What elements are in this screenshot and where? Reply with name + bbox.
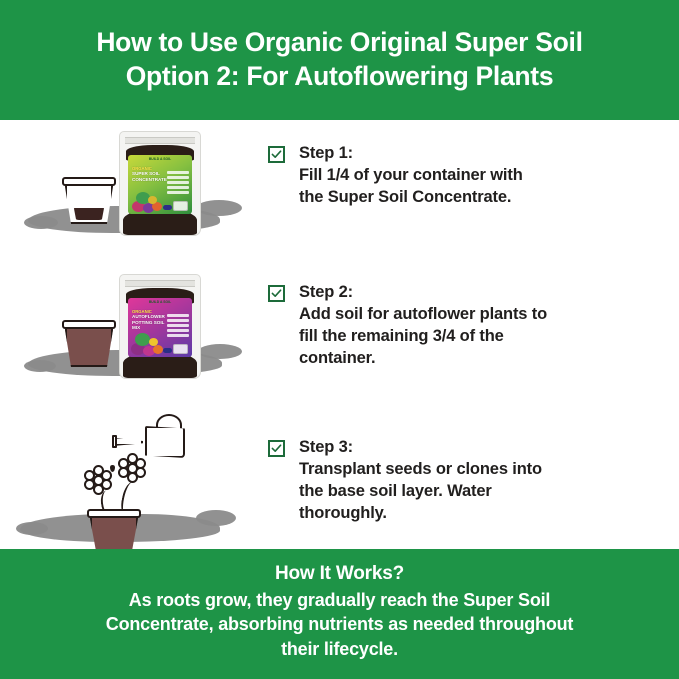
step-2-desc-line-3: container. (299, 348, 547, 370)
checked-checkbox-icon (268, 146, 285, 163)
product-bag-super-soil-concentrate: BUILD A SOIL ORGANIC SUPER SOIL CONCENTR… (119, 131, 201, 236)
step-3-desc-line-3: thoroughly. (299, 503, 542, 525)
step-3-label: Step 3: (299, 437, 542, 459)
pot-rim (62, 320, 116, 329)
step-row-2: BUILD A SOIL ORGANIC AUTOFLOWER POTTING … (0, 262, 679, 420)
footer-banner: How It Works? As roots grow, they gradua… (0, 549, 679, 679)
step-3-desc-line-1: Transplant seeds or clones into (299, 459, 542, 481)
flower-center (127, 463, 138, 474)
footer-body: As roots grow, they gradually reach the … (20, 588, 659, 661)
product-bag-autoflower-soil: BUILD A SOIL ORGANIC AUTOFLOWER POTTING … (119, 274, 201, 379)
header-title-line-1: How to Use Organic Original Super Soil (96, 26, 582, 60)
infographic-page: How to Use Organic Original Super Soil O… (0, 0, 679, 679)
flower-center (93, 475, 104, 486)
plant-pot (62, 177, 116, 224)
pot-body (65, 185, 114, 224)
bag-title-text: ORGANIC AUTOFLOWER POTTING SOIL MIX (132, 309, 170, 331)
bag-weight-badge (173, 201, 188, 211)
step-3-illustration (0, 420, 258, 549)
footer-body-line-1: As roots grow, they gradually reach the … (20, 588, 659, 612)
shadow-stroke-tail (16, 522, 48, 535)
step-3-copy: Step 3: Transplant seeds or clones into … (299, 437, 542, 525)
plant-pot (62, 320, 116, 367)
shadow-stroke-tail (196, 510, 236, 526)
step-row-1: BUILD A SOIL ORGANIC SUPER SOIL CONCENTR… (0, 120, 679, 262)
checked-checkbox-icon (268, 285, 285, 302)
step-2-desc-line-2: fill the remaining 3/4 of the (299, 326, 547, 348)
pot-body (65, 328, 114, 367)
watering-can-spout (113, 437, 143, 446)
pot-soil-layer (73, 208, 105, 220)
header-banner: How to Use Organic Original Super Soil O… (0, 0, 679, 120)
shadow-stroke-tail (24, 216, 58, 229)
bag-zipper (125, 137, 195, 144)
bag-brand-text: BUILD A SOIL (149, 157, 171, 161)
step-1-desc-line-2: the Super Soil Concentrate. (299, 187, 523, 209)
pot-rim (87, 509, 141, 518)
bag-brand-text: BUILD A SOIL (149, 300, 171, 304)
pot-rim (62, 177, 116, 186)
step-2-label: Step 2: (299, 282, 547, 304)
step-1-desc-line-1: Fill 1/4 of your container with (299, 165, 523, 187)
step-2-copy: Step 2: Add soil for autoflower plants t… (299, 282, 547, 370)
footer-title: How It Works? (20, 562, 659, 587)
step-1-label: Step 1: (299, 143, 523, 165)
shadow-stroke-tail (198, 344, 242, 359)
header-title-line-2: Option 2: For Autoflowering Plants (126, 60, 554, 94)
bag-feature-bullets (167, 171, 189, 196)
shadow-stroke-tail (196, 200, 242, 216)
bag-product-name: AUTOFLOWER POTTING SOIL MIX (132, 314, 165, 330)
watering-can-body (145, 426, 185, 458)
step-1-copy: Step 1: Fill 1/4 of your container with … (299, 143, 523, 209)
bag-product-name: SUPER SOIL CONCENTRATE (132, 171, 167, 182)
shadow-stroke-tail (24, 360, 56, 372)
step-3-desc-line-2: the base soil layer. Water (299, 481, 542, 503)
step-2-text-block: Step 2: Add soil for autoflower plants t… (268, 282, 668, 370)
plant-pot (87, 509, 141, 551)
flower-icon (83, 465, 113, 495)
step-1-illustration: BUILD A SOIL ORGANIC SUPER SOIL CONCENTR… (0, 120, 258, 262)
step-row-3: Step 3: Transplant seeds or clones into … (0, 420, 679, 549)
bag-weight-badge (173, 344, 188, 354)
footer-body-line-3: their lifecycle. (20, 637, 659, 661)
watering-can-nozzle (112, 435, 117, 448)
steps-section: BUILD A SOIL ORGANIC SUPER SOIL CONCENTR… (0, 120, 679, 549)
step-3-text-block: Step 3: Transplant seeds or clones into … (268, 437, 668, 525)
bag-seal-badge (163, 205, 172, 210)
bag-label: BUILD A SOIL ORGANIC SUPER SOIL CONCENTR… (128, 155, 192, 215)
step-2-illustration: BUILD A SOIL ORGANIC AUTOFLOWER POTTING … (0, 262, 258, 420)
bag-zipper (125, 280, 195, 287)
bag-label: BUILD A SOIL ORGANIC AUTOFLOWER POTTING … (128, 298, 192, 358)
bag-seal-badge (163, 348, 172, 353)
step-1-text-block: Step 1: Fill 1/4 of your container with … (268, 143, 668, 209)
footer-body-line-2: Concentrate, absorbing nutrients as need… (20, 612, 659, 636)
flower-icon (117, 453, 147, 483)
step-2-desc-line-1: Add soil for autoflower plants to (299, 304, 547, 326)
bag-feature-bullets (167, 314, 189, 339)
bag-title-text: ORGANIC SUPER SOIL CONCENTRATE (132, 166, 170, 183)
pot-body (90, 517, 139, 551)
checked-checkbox-icon (268, 440, 285, 457)
